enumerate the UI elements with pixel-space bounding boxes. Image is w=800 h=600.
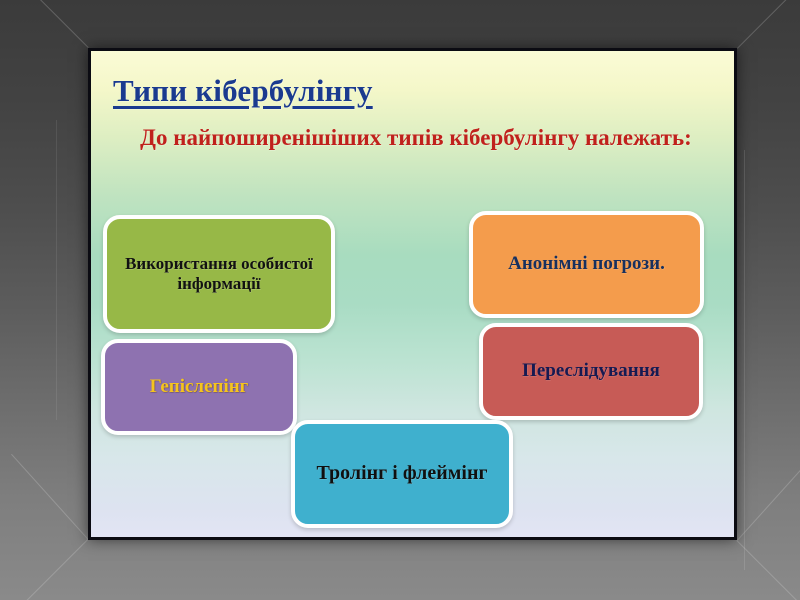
backdrop-seam-bottom-left-2: [11, 454, 89, 540]
concept-box-hepisleping[interactable]: Гепіслепінг: [101, 339, 297, 435]
backdrop-seam-top-right: [737, 0, 800, 49]
concept-box-stalking[interactable]: Переслідування: [479, 323, 703, 420]
concept-box-label: Використання особистої інформації: [115, 254, 323, 294]
concept-box-trolling-flaming[interactable]: Тролінг і флеймінг: [291, 420, 513, 528]
slide-subtitle: До найпоширенішіших типів кібербулінгу н…: [121, 123, 711, 152]
backdrop-seam-bottom-right: [736, 540, 800, 600]
concept-box-label: Гепіслепінг: [150, 376, 249, 398]
presentation-slide: Типи кібербулінгу До найпоширенішіших ти…: [88, 48, 737, 540]
concept-box-anonymous-threats[interactable]: Анонімні погрози.: [469, 211, 704, 318]
concept-box-personal-info[interactable]: Використання особистої інформації: [103, 215, 335, 333]
presentation-backdrop: Типи кібербулінгу До найпоширенішіших ти…: [0, 0, 800, 600]
backdrop-seam-vertical-left: [56, 120, 57, 420]
backdrop-seam-top-left: [0, 0, 89, 48]
page-title: Типи кібербулінгу: [113, 73, 373, 109]
backdrop-seam-vertical-right: [744, 150, 745, 570]
backdrop-seam-bottom-right-2: [737, 458, 800, 540]
concept-box-label: Тролінг і флеймінг: [316, 462, 487, 486]
backdrop-seam-bottom-left: [0, 539, 88, 600]
concept-box-label: Анонімні погрози.: [508, 253, 665, 275]
concept-box-label: Переслідування: [522, 360, 660, 382]
